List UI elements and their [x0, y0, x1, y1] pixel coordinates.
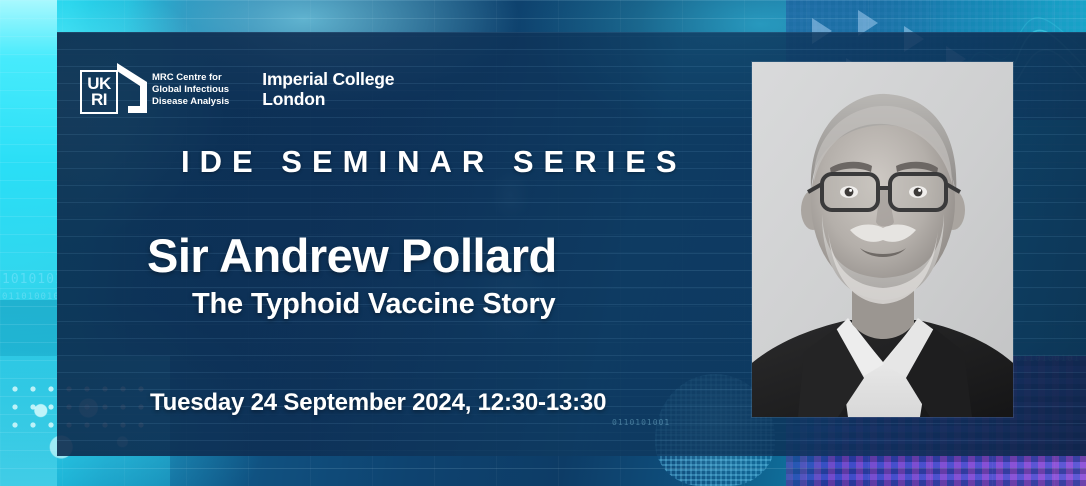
speaker-portrait [752, 62, 1013, 417]
ukri-monogram-line2: RI [91, 92, 107, 108]
event-datetime: Tuesday 24 September 2024, 12:30-13:30 [150, 389, 606, 417]
binary-code-under-date: 0110101001 [612, 418, 732, 427]
ukri-monogram: UK RI [80, 70, 118, 114]
series-title: IDE SEMINAR SERIES [181, 144, 687, 180]
logo-row: UK RI MRC Centre for Global Infectious D… [80, 62, 394, 116]
talk-title: The Typhoid Vaccine Story [192, 288, 556, 321]
mrc-line-2: Global Infectious [152, 84, 229, 96]
imperial-line-1: Imperial College [262, 70, 394, 90]
speaker-name: Sir Andrew Pollard [147, 228, 557, 283]
seminar-banner: 1010101 01101001011010 10110100101 01101… [0, 0, 1086, 486]
ukri-logo-icon: UK RI [80, 62, 148, 116]
logo-divider [247, 70, 248, 114]
ukri-logo: UK RI MRC Centre for Global Infectious D… [80, 62, 229, 116]
mrc-centre-wordmark: MRC Centre for Global Infectious Disease… [152, 72, 229, 108]
imperial-college-wordmark: Imperial College London [262, 70, 394, 109]
mrc-line-1: MRC Centre for [152, 72, 229, 84]
mrc-line-3: Disease Analysis [152, 96, 229, 108]
ukri-swoosh-icon [116, 62, 148, 114]
speaker-portrait-image [752, 62, 1013, 417]
imperial-line-2: London [262, 90, 394, 110]
